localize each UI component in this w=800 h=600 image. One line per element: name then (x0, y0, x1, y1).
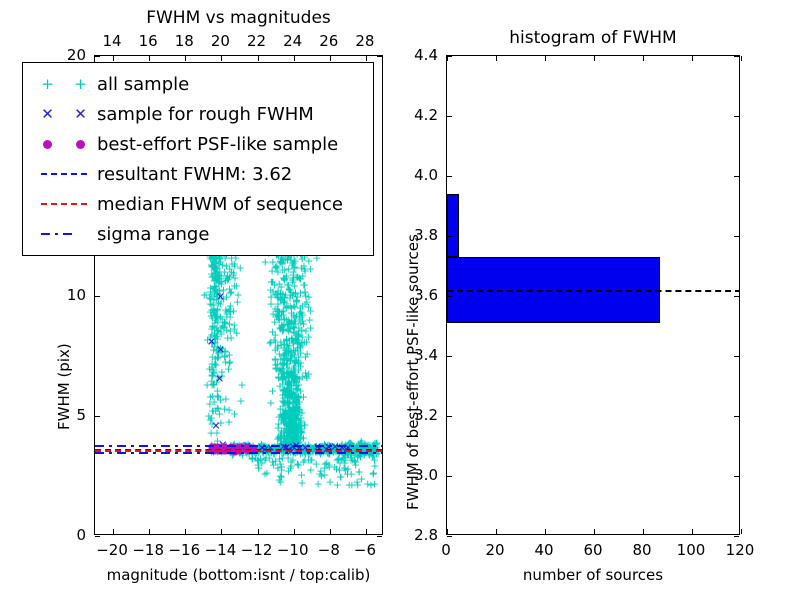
scatter-point-all-sample: + (284, 430, 293, 441)
scatter-point-all-sample: + (348, 454, 357, 465)
scatter-point-all-sample: + (211, 359, 220, 370)
scatter-point-all-sample: + (217, 279, 226, 290)
scatter-point-all-sample: + (291, 434, 300, 445)
scatter-point-all-sample: + (203, 335, 212, 346)
scatter-point-all-sample: + (294, 326, 303, 337)
scatter-point-all-sample: + (211, 284, 220, 295)
scatter-point-all-sample: + (208, 390, 217, 401)
legend-item-median-fhwm[interactable]: median FHWM of sequence (31, 189, 365, 219)
scatter-point-all-sample: + (222, 309, 231, 320)
scatter-point-all-sample: + (212, 313, 221, 324)
scatter-point-all-sample: + (278, 374, 287, 385)
scatter-point-all-sample: + (291, 406, 300, 417)
scatter-point-all-sample: + (292, 379, 301, 390)
scatter-point-all-sample: + (212, 310, 221, 321)
scatter-point-all-sample: + (296, 426, 305, 437)
scatter-point-all-sample: + (271, 355, 280, 366)
scatter-point-all-sample: + (217, 277, 226, 288)
scatter-point-all-sample: + (290, 391, 299, 402)
scatter-point-all-sample: + (285, 391, 294, 402)
scatter-point-all-sample: + (295, 342, 304, 353)
scatter-point-all-sample: + (213, 325, 222, 336)
scatter-point-all-sample: + (214, 392, 223, 403)
scatter-point-all-sample: + (210, 263, 219, 274)
scatter-point-all-sample: + (283, 324, 292, 335)
scatter-point-all-sample: + (291, 430, 300, 441)
scatter-point-all-sample: + (277, 471, 286, 482)
scatter-point-all-sample: + (212, 265, 221, 276)
legend-item-rough-fwhm-sample[interactable]: ✕✕ sample for rough FWHM (31, 99, 365, 129)
scatter-point-all-sample: + (294, 335, 303, 346)
scatter-point-all-sample: + (294, 406, 303, 417)
scatter-point-all-sample: + (279, 393, 288, 404)
scatter-point-all-sample: + (268, 456, 277, 467)
scatter-point-all-sample: + (221, 345, 230, 356)
scatter-point-all-sample: + (284, 418, 293, 429)
scatter-point-all-sample: + (208, 261, 217, 272)
scatter-point-all-sample: + (302, 372, 311, 383)
scatter-point-all-sample: + (295, 309, 304, 320)
scatter-point-all-sample: + (302, 337, 311, 348)
scatter-point-all-sample: + (277, 281, 286, 292)
scatter-point-all-sample: + (274, 418, 283, 429)
y-tick-right-mirror (734, 296, 739, 297)
scatter-point-all-sample: + (290, 412, 299, 423)
scatter-point-all-sample: + (288, 414, 297, 425)
scatter-top-ticklabel: 28 (355, 32, 374, 50)
legend-label-median-fhwm: median FHWM of sequence (97, 194, 343, 215)
scatter-point-all-sample: + (276, 458, 285, 469)
scatter-point-all-sample: + (294, 351, 303, 362)
scatter-point-all-sample: + (281, 345, 290, 356)
scatter-point-all-sample: + (282, 314, 291, 325)
scatter-point-rough-fwhm: ✕ (216, 292, 225, 303)
scatter-point-all-sample: + (233, 296, 242, 307)
scatter-point-all-sample: + (277, 319, 286, 330)
scatter-x-ticklabel: −8 (318, 541, 340, 559)
scatter-point-all-sample: + (291, 410, 300, 421)
scatter-point-all-sample: + (212, 264, 221, 275)
scatter-point-all-sample: + (273, 309, 282, 320)
y-tick (447, 296, 452, 297)
scatter-point-all-sample: + (276, 366, 285, 377)
scatter-point-all-sample: + (284, 403, 293, 414)
scatter-point-all-sample: + (292, 397, 301, 408)
scatter-point-all-sample: + (278, 359, 287, 370)
scatter-point-all-sample: + (282, 429, 291, 440)
scatter-point-all-sample: + (214, 270, 223, 281)
scatter-point-all-sample: + (274, 314, 283, 325)
scatter-point-all-sample: + (280, 438, 289, 449)
scatter-point-all-sample: + (279, 410, 288, 421)
scatter-point-all-sample: + (300, 419, 309, 430)
histogram-y-axis-label: FWHM of best-effort PSF-like sources (404, 234, 422, 510)
scatter-point-all-sample: + (208, 313, 217, 324)
scatter-point-all-sample: + (280, 432, 289, 443)
scatter-point-all-sample: + (211, 258, 220, 269)
scatter-point-all-sample: + (282, 336, 291, 347)
scatter-point-all-sample: + (237, 380, 246, 391)
scatter-point-all-sample: + (288, 393, 297, 404)
scatter-point-all-sample: + (296, 418, 305, 429)
histogram-x-axis-label: number of sources (446, 566, 740, 584)
scatter-point-all-sample: + (227, 287, 236, 298)
scatter-point-all-sample: + (294, 421, 303, 432)
scatter-point-all-sample: + (222, 307, 231, 318)
scatter-point-all-sample: + (291, 376, 300, 387)
scatter-point-all-sample: + (299, 432, 308, 443)
scatter-point-all-sample: + (293, 396, 302, 407)
scatter-point-all-sample: + (286, 429, 295, 440)
scatter-point-all-sample: + (296, 415, 305, 426)
scatter-point-all-sample: + (269, 459, 278, 470)
scatter-point-all-sample: + (230, 319, 239, 330)
scatter-point-all-sample: + (232, 327, 241, 338)
scatter-point-all-sample: + (283, 419, 292, 430)
scatter-point-all-sample: + (285, 377, 294, 388)
scatter-point-all-sample: + (213, 287, 222, 298)
scatter-point-all-sample: + (281, 289, 290, 300)
scatter-point-all-sample: + (211, 305, 220, 316)
scatter-point-all-sample: + (292, 413, 301, 424)
scatter-point-all-sample: + (213, 372, 222, 383)
scatter-point-all-sample: + (230, 260, 239, 271)
scatter-point-all-sample: + (295, 272, 304, 283)
scatter-point-all-sample: + (278, 379, 287, 390)
scatter-point-all-sample: + (268, 309, 277, 320)
y-tick-right-mirror (734, 416, 739, 417)
scatter-point-all-sample: + (266, 292, 275, 303)
scatter-top-ticklabel: 22 (247, 32, 266, 50)
scatter-point-all-sample: + (213, 386, 222, 397)
scatter-point-all-sample: + (280, 423, 289, 434)
scatter-point-all-sample: + (208, 271, 217, 282)
scatter-point-all-sample: + (213, 390, 222, 401)
scatter-point-all-sample: + (236, 262, 245, 273)
scatter-point-all-sample: + (300, 287, 309, 298)
y-tick-right-mirror (377, 296, 382, 297)
scatter-point-all-sample: + (214, 278, 223, 289)
scatter-point-all-sample: + (298, 332, 307, 343)
scatter-point-all-sample: + (225, 319, 234, 330)
legend-item-all-sample[interactable]: ++ all sample (31, 69, 365, 99)
scatter-point-all-sample: + (296, 386, 305, 397)
scatter-point-all-sample: + (285, 324, 294, 335)
scatter-point-all-sample: + (285, 406, 294, 417)
scatter-point-all-sample: + (278, 326, 287, 337)
scatter-y-axis-label: FWHM (pix) (55, 343, 73, 430)
scatter-point-all-sample: + (268, 256, 277, 267)
scatter-point-all-sample: + (278, 368, 287, 379)
scatter-point-all-sample: + (278, 374, 287, 385)
scatter-point-all-sample: + (295, 405, 304, 416)
scatter-point-all-sample: + (283, 392, 292, 403)
scatter-point-all-sample: + (276, 433, 285, 444)
scatter-point-all-sample: + (297, 337, 306, 348)
scatter-point-all-sample: + (285, 416, 294, 427)
scatter-point-all-sample: + (214, 343, 223, 354)
scatter-point-all-sample: + (225, 271, 234, 282)
scatter-point-all-sample: + (285, 406, 294, 417)
histogram-title: histogram of FWHM (446, 28, 740, 48)
scatter-point-all-sample: + (277, 363, 286, 374)
circle-icon (31, 134, 97, 154)
scatter-point-all-sample: + (206, 287, 215, 298)
histogram-x-ticklabel: 100 (677, 541, 706, 559)
scatter-point-all-sample: + (220, 266, 229, 277)
scatter-point-all-sample: + (284, 315, 293, 326)
scatter-point-all-sample: + (293, 291, 302, 302)
scatter-point-all-sample: + (290, 438, 299, 449)
scatter-point-all-sample: + (277, 414, 286, 425)
scatter-point-all-sample: + (288, 418, 297, 429)
scatter-point-all-sample: + (296, 311, 305, 322)
scatter-point-all-sample: + (347, 453, 356, 464)
scatter-point-all-sample: + (286, 367, 295, 378)
scatter-point-all-sample: + (286, 412, 295, 423)
scatter-point-all-sample: + (280, 411, 289, 422)
scatter-point-all-sample: + (290, 365, 299, 376)
scatter-point-all-sample: + (333, 455, 342, 466)
scatter-point-all-sample: + (257, 438, 266, 449)
scatter-point-all-sample: + (215, 408, 224, 419)
scatter-point-all-sample: + (284, 398, 293, 409)
scatter-x-ticklabel: −10 (277, 541, 309, 559)
scatter-point-all-sample: + (281, 347, 290, 358)
scatter-point-all-sample: + (287, 423, 296, 434)
x-tick-top-mirror (366, 56, 367, 61)
legend-label-all-sample: all sample (97, 74, 189, 95)
scatter-point-all-sample: + (284, 373, 293, 384)
scatter-point-all-sample: + (291, 438, 300, 449)
scatter-point-all-sample: + (282, 387, 291, 398)
scatter-point-all-sample: + (205, 399, 214, 410)
scatter-point-all-sample: + (283, 279, 292, 290)
scatter-point-all-sample: + (280, 415, 289, 426)
scatter-point-all-sample: + (279, 325, 288, 336)
scatter-point-all-sample: + (278, 413, 287, 424)
x-tick-top-mirror (149, 56, 150, 61)
scatter-point-all-sample: + (283, 366, 292, 377)
scatter-point-all-sample: + (288, 432, 297, 443)
scatter-point-all-sample: + (294, 358, 303, 369)
scatter-point-all-sample: + (345, 479, 354, 490)
scatter-point-all-sample: + (288, 404, 297, 415)
scatter-point-all-sample: + (288, 429, 297, 440)
legend-item-psf-like-sample[interactable]: best-effort PSF-like sample (31, 129, 365, 159)
scatter-point-all-sample: + (289, 362, 298, 373)
scatter-point-rough-fwhm: ✕ (207, 336, 216, 347)
scatter-point-all-sample: + (287, 429, 296, 440)
scatter-point-all-sample: + (294, 391, 303, 402)
scatter-point-all-sample: + (213, 353, 222, 364)
scatter-point-all-sample: + (210, 283, 219, 294)
scatter-point-all-sample: + (274, 372, 283, 383)
scatter-point-all-sample: + (291, 355, 300, 366)
scatter-point-all-sample: + (291, 414, 300, 425)
scatter-point-all-sample: + (215, 274, 224, 285)
scatter-point-all-sample: + (291, 423, 300, 434)
scatter-point-all-sample: + (271, 364, 280, 375)
scatter-point-all-sample: + (284, 280, 293, 291)
scatter-point-all-sample: + (210, 262, 219, 273)
scatter-point-all-sample: + (270, 303, 279, 314)
histogram-x-ticklabel: 80 (632, 541, 651, 559)
scatter-point-all-sample: + (300, 266, 309, 277)
x-tick (545, 529, 546, 534)
legend-item-resultant-fwhm[interactable]: resultant FWHM: 3.62 (31, 159, 365, 189)
scatter-point-all-sample: + (292, 419, 301, 430)
scatter-point-all-sample: + (284, 412, 293, 423)
scatter-point-all-sample: + (253, 460, 262, 471)
scatter-point-all-sample: + (294, 432, 303, 443)
scatter-point-all-sample: + (334, 453, 343, 464)
y-tick-right-mirror (377, 416, 382, 417)
scatter-point-all-sample: + (313, 479, 322, 490)
scatter-point-all-sample: + (286, 370, 295, 381)
scatter-point-all-sample: + (289, 425, 298, 436)
legend-label-resultant-fwhm: resultant FWHM: 3.62 (97, 164, 292, 185)
scatter-point-all-sample: + (306, 306, 315, 317)
x-tick-top-mirror (258, 56, 259, 61)
y-tick (447, 236, 452, 237)
legend-item-sigma-range[interactable]: sigma range (31, 219, 365, 249)
scatter-point-all-sample: + (213, 305, 222, 316)
scatter-point-all-sample: + (220, 316, 229, 327)
scatter-point-all-sample: + (298, 478, 307, 489)
scatter-point-all-sample: + (289, 327, 298, 338)
histogram-y-ticklabel: 2.8 (414, 526, 438, 544)
x-tick (185, 529, 186, 534)
scatter-point-all-sample: + (289, 301, 298, 312)
scatter-point-all-sample: + (287, 387, 296, 398)
scatter-point-all-sample: + (315, 468, 324, 479)
scatter-point-all-sample: + (283, 418, 292, 429)
scatter-point-all-sample: + (337, 455, 346, 466)
scatter-point-all-sample: + (279, 425, 288, 436)
scatter-point-all-sample: + (372, 438, 381, 449)
scatter-point-all-sample: + (212, 345, 221, 356)
scatter-point-all-sample: + (224, 363, 233, 374)
scatter-point-all-sample: + (282, 373, 291, 384)
scatter-point-all-sample: + (284, 380, 293, 391)
legend-label-psf-like-sample: best-effort PSF-like sample (97, 134, 338, 155)
scatter-point-all-sample: + (289, 266, 298, 277)
scatter-point-all-sample: + (290, 371, 299, 382)
scatter-top-ticklabel: 20 (211, 32, 230, 50)
scatter-point-all-sample: + (274, 364, 283, 375)
scatter-point-all-sample: + (236, 396, 245, 407)
scatter-point-all-sample: + (297, 324, 306, 335)
scatter-point-all-sample: + (291, 404, 300, 415)
scatter-point-all-sample: + (218, 260, 227, 271)
scatter-point-all-sample: + (301, 290, 310, 301)
scatter-point-all-sample: + (285, 438, 294, 449)
scatter-point-all-sample: + (289, 258, 298, 269)
scatter-point-all-sample: + (274, 432, 283, 443)
scatter-point-all-sample: + (214, 404, 223, 415)
scatter-point-all-sample: + (213, 403, 222, 414)
scatter-point-all-sample: + (288, 338, 297, 349)
scatter-point-all-sample: + (207, 418, 216, 429)
scatter-point-all-sample: + (207, 268, 216, 279)
scatter-point-all-sample: + (288, 420, 297, 431)
scatter-point-all-sample: + (299, 279, 308, 290)
scatter-point-all-sample: + (226, 325, 235, 336)
scatter-point-all-sample: + (206, 414, 215, 425)
scatter-point-all-sample: + (288, 368, 297, 379)
scatter-point-all-sample: + (225, 404, 234, 415)
histogram-data-area (447, 56, 739, 534)
scatter-point-all-sample: + (297, 469, 306, 480)
scatter-point-all-sample: + (273, 342, 282, 353)
scatter-point-all-sample: + (300, 298, 309, 309)
scatter-point-all-sample: + (300, 280, 309, 291)
scatter-point-all-sample: + (280, 314, 289, 325)
scatter-point-all-sample: + (273, 299, 282, 310)
scatter-point-all-sample: + (272, 288, 281, 299)
scatter-point-all-sample: + (212, 294, 221, 305)
scatter-point-all-sample: + (212, 309, 221, 320)
scatter-point-all-sample: + (287, 367, 296, 378)
scatter-point-all-sample: + (217, 370, 226, 381)
scatter-point-all-sample: + (284, 376, 293, 387)
scatter-point-all-sample: + (354, 466, 363, 477)
scatter-point-all-sample: + (284, 264, 293, 275)
scatter-point-all-sample: + (293, 271, 302, 282)
scatter-point-all-sample: + (297, 426, 306, 437)
scatter-point-all-sample: + (280, 275, 289, 286)
scatter-point-all-sample: + (296, 274, 305, 285)
scatter-point-all-sample: + (223, 275, 232, 286)
scatter-point-all-sample: + (288, 418, 297, 429)
scatter-point-all-sample: + (286, 323, 295, 334)
scatter-point-all-sample: + (278, 321, 287, 332)
scatter-point-all-sample: + (282, 351, 291, 362)
scatter-point-all-sample: + (206, 299, 215, 310)
scatter-point-all-sample: + (299, 319, 308, 330)
scatter-point-all-sample: + (288, 258, 297, 269)
x-tick-top-mirror (294, 56, 295, 61)
scatter-point-all-sample: + (284, 427, 293, 438)
scatter-point-all-sample: + (296, 421, 305, 432)
scatter-point-all-sample: + (208, 321, 217, 332)
scatter-point-all-sample: + (285, 421, 294, 432)
scatter-point-all-sample: + (210, 310, 219, 321)
scatter-point-all-sample: + (291, 396, 300, 407)
scatter-point-all-sample: + (286, 284, 295, 295)
scatter-point-all-sample: + (211, 270, 220, 281)
scatter-point-all-sample: + (280, 431, 289, 442)
scatter-point-all-sample: + (217, 347, 226, 358)
scatter-point-all-sample: + (292, 404, 301, 415)
scatter-point-all-sample: + (284, 427, 293, 438)
scatter-x-axis-label: magnitude (bottom:isnt / top:calib) (94, 566, 383, 584)
y-tick (447, 56, 452, 57)
scatter-point-all-sample: + (290, 316, 299, 327)
scatter-point-all-sample: + (209, 379, 218, 390)
scatter-point-all-sample: + (256, 454, 265, 465)
scatter-point-all-sample: + (294, 438, 303, 449)
scatter-point-all-sample: + (206, 283, 215, 294)
scatter-point-all-sample: + (280, 353, 289, 364)
scatter-point-all-sample: + (288, 257, 297, 268)
scatter-point-all-sample: + (296, 434, 305, 445)
scatter-point-all-sample: + (280, 412, 289, 423)
scatter-point-all-sample: + (283, 399, 292, 410)
histogram-x-ticklabel: 60 (583, 541, 602, 559)
scatter-point-all-sample: + (290, 396, 299, 407)
